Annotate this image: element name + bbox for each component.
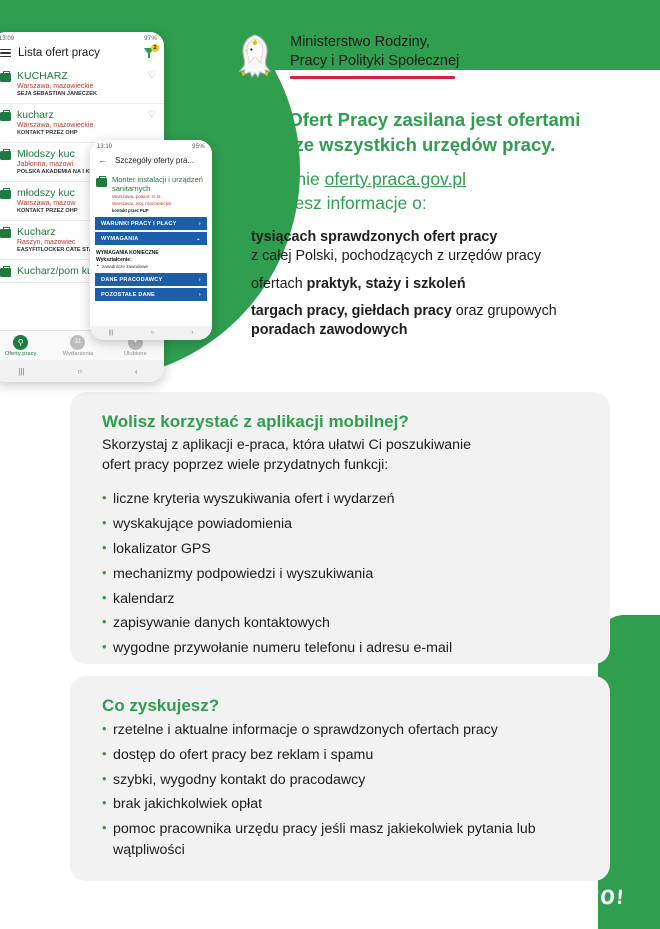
hero-title: Baza Ofert Pracy zasilana jest ofertami …: [240, 108, 640, 158]
search-icon: ⚲: [13, 335, 28, 350]
briefcase-icon: [0, 229, 11, 238]
card-benefits-list: rzetelne i aktualne informacje o sprawdz…: [102, 720, 578, 862]
favorite-heart-icon[interactable]: ♡: [148, 70, 156, 98]
offer-meta-line1: Warszawa, powiat: m.st.: [112, 194, 206, 200]
ministry-red-rule: [290, 76, 455, 79]
card-mobile-app: Wolisz korzystać z aplikacji mobilnej? S…: [70, 392, 610, 664]
status-time: 13:09: [0, 36, 14, 42]
job-location: Warszawa, mazowieckie: [17, 83, 142, 90]
app-bar-title: Lista ofert pracy: [18, 47, 137, 59]
accordion-label: DANE PRACODAWCY: [101, 277, 162, 283]
nav-tab-oferty-pracy[interactable]: ⚲ Oferty pracy: [0, 335, 49, 358]
status-battery: 97%: [144, 36, 157, 42]
ministry-name: Ministerstwo Rodziny, Pracy i Polityki S…: [290, 30, 459, 71]
home-button[interactable]: ○: [151, 330, 155, 336]
briefcase-icon: [0, 190, 11, 199]
card-benefits-heading: Co zyskujesz?: [102, 696, 578, 716]
chevron-right-icon: ›: [199, 221, 201, 227]
hero-bullet-3: targach pracy, giełdach pracy oraz grupo…: [240, 302, 650, 341]
card-app-heading: Wolisz korzystać z aplikacji mobilnej?: [102, 412, 578, 432]
job-location: Warszawa, mazowieckie: [17, 122, 142, 129]
favorite-heart-icon[interactable]: ♡: [148, 109, 156, 137]
briefcase-icon: [0, 112, 11, 121]
hero-sub-prefix: Na stronie: [240, 169, 325, 189]
job-employer: KONTAKT PRZEZ OHP: [17, 130, 142, 137]
hero-title-line1: Baza Ofert Pracy zasilana jest ofertami: [240, 108, 640, 133]
hero-bullet-3-bold: targach pracy, giełdach pracy: [251, 303, 452, 319]
requirements-subheading: Wykształcenie:: [90, 257, 212, 264]
list-item[interactable]: kucharz Warszawa, mazowieckie KONTAKT PR…: [0, 104, 164, 143]
home-button[interactable]: ○: [77, 367, 82, 376]
offer-title: Monter instalacji i urządzeń sanitarnych: [112, 175, 206, 193]
card-app-intro: Skorzystaj z aplikacji e-praca, która uł…: [102, 435, 578, 475]
job-employer: SEJA SEBASTIAN JANECZEK: [17, 91, 142, 98]
list-item: zapisywanie danych kontaktowych: [102, 613, 578, 634]
hero-copy: Baza Ofert Pracy zasilana jest ofertami …: [240, 108, 640, 215]
ministry-name-line1: Ministerstwo Rodziny,: [290, 33, 459, 52]
back-button[interactable]: ‹: [135, 367, 138, 376]
hero-bullet-2-normal: ofertach: [251, 276, 307, 292]
filter-badge: 2: [151, 44, 159, 52]
phone-status-bar: 13:10 95%: [90, 140, 212, 152]
card-app-intro-line1: Skorzystaj z aplikacji e-praca, która uł…: [102, 435, 578, 455]
back-arrow-icon[interactable]: ←: [98, 155, 108, 165]
hamburger-menu-icon[interactable]: [0, 47, 11, 59]
chevron-right-icon: ›: [199, 277, 201, 283]
list-item: kalendarz: [102, 589, 578, 610]
accordion-wymagania[interactable]: WYMAGANIA ⌄: [95, 232, 207, 245]
list-item[interactable]: KUCHARZ Warszawa, mazowieckie SEJA SEBAS…: [0, 65, 164, 104]
ministry-header: Ministerstwo Rodziny, Pracy i Polityki S…: [232, 30, 459, 82]
list-item: liczne kryteria wyszukiwania ofert i wyd…: [102, 489, 578, 510]
nav-label: Ulubione: [124, 351, 147, 357]
accordion-dane-pracodawcy[interactable]: DANE PRACODAWCY ›: [95, 273, 207, 286]
accordion-label: POZOSTAŁE DANE: [101, 292, 155, 298]
status-time: 13:10: [97, 144, 112, 150]
back-button[interactable]: ‹: [191, 330, 193, 336]
list-item: lokalizator GPS: [102, 539, 578, 560]
list-item: wygodne przywołanie numeru telefonu i ad…: [102, 638, 578, 659]
hero-bullet-1: tysiącach sprawdzonych ofert pracy z cał…: [240, 228, 650, 267]
phone-mockup-offer-detail: 13:10 95% ← Szczegóły oferty pra... Mont…: [90, 140, 212, 340]
briefcase-icon: [0, 73, 11, 82]
card-app-feature-list: liczne kryteria wyszukiwania ofert i wyd…: [102, 489, 578, 659]
hero-bullet-list: tysiącach sprawdzonych ofert pracy z cał…: [240, 228, 650, 348]
hero-bullet-3-line2: poradach zawodowych: [251, 322, 408, 338]
calendar-icon: 31: [70, 335, 85, 350]
status-battery: 95%: [192, 144, 205, 150]
polish-eagle-emblem-icon: [232, 30, 278, 82]
list-item: mechanizmy podpowiedzi i wyszukiwania: [102, 564, 578, 585]
requirements-heading: WYMAGANIA KONIECZNE: [90, 247, 212, 257]
nav-label: Oferty pracy: [5, 351, 37, 357]
card-app-intro-line2: ofert pracy poprzez wiele przydatnych fu…: [102, 455, 578, 475]
oferty-praca-link[interactable]: oferty.praca.gov.pl: [325, 169, 466, 189]
list-item: szybki, wygodny kontakt do pracodawcy: [102, 770, 578, 791]
job-title: KUCHARZ: [17, 70, 142, 82]
job-title: kucharz: [17, 109, 142, 121]
accordion-label: WYMAGANIA: [101, 236, 139, 242]
footer-tagline: BĄDŹ NA BIEŻĄCO!: [419, 887, 626, 910]
phone-app-bar: Lista ofert pracy 2: [0, 44, 164, 65]
card-benefits: Co zyskujesz? rzetelne i aktualne inform…: [70, 676, 610, 881]
accordion-warunki-pracy[interactable]: WARUNKI PRACY I PŁACY ›: [95, 217, 207, 230]
phone-app-bar: ← Szczegóły oferty pra...: [90, 152, 212, 171]
list-item: dostęp do ofert pracy bez reklam i spamu: [102, 745, 578, 766]
android-system-bar: ||| ○ ‹: [0, 360, 164, 382]
accordion-label: WARUNKI PRACY I PŁACY: [101, 221, 177, 227]
briefcase-icon: [96, 178, 107, 187]
hero-sub-suffix: znajdziesz informacje o:: [240, 191, 640, 215]
chevron-down-icon: ⌄: [196, 236, 201, 242]
hero-bullet-2: ofertach praktyk, staży i szkoleń: [240, 275, 650, 294]
offer-contact-note: kontakt przez PUP: [112, 208, 206, 213]
hero-subtitle: Na stronie oferty.praca.gov.pl znajdzies…: [240, 167, 640, 215]
filter-funnel-icon[interactable]: 2: [144, 47, 156, 59]
nav-label: Wydarzenia: [63, 351, 94, 357]
list-item: wyskakujące powiadomienia: [102, 514, 578, 535]
app-bar-title: Szczegóły oferty pra...: [115, 156, 204, 165]
poster-page: BĄDŹ NA BIEŻĄCO! Ministerstwo Rodziny, P…: [0, 0, 660, 929]
briefcase-icon: [0, 268, 11, 277]
offer-header: Monter instalacji i urządzeń sanitarnych…: [90, 171, 212, 215]
briefcase-icon: [0, 151, 11, 160]
phone-status-bar: 13:09 97%: [0, 32, 164, 44]
chevron-right-icon: ›: [199, 292, 201, 298]
accordion-pozostale-dane[interactable]: POZOSTAŁE DANE ›: [95, 288, 207, 301]
hero-title-line2: pracy ze wszystkich urzędów pracy.: [240, 133, 640, 158]
android-system-bar: ||| ○ ‹: [90, 326, 212, 340]
requirements-item: zasadnicze zawodowe: [90, 264, 212, 271]
offer-meta-line2: Warszawa, woj. mazowieckie: [112, 201, 206, 207]
ministry-name-line2: Pracy i Polityki Społecznej: [290, 52, 459, 71]
recents-button[interactable]: |||: [109, 330, 114, 336]
list-item: pomoc pracownika urzędu pracy jeśli masz…: [102, 819, 578, 862]
list-item: rzetelne i aktualne informacje o sprawdz…: [102, 720, 578, 741]
recents-button[interactable]: |||: [18, 367, 24, 376]
hero-bullet-1-line2: z całej Polski, pochodzących z urzędów p…: [251, 248, 541, 264]
hero-bullet-3-normal: oraz grupowych: [452, 303, 557, 319]
hero-bullet-2-bold: praktyk, staży i szkoleń: [307, 276, 466, 292]
list-item: brak jakichkolwiek opłat: [102, 794, 578, 815]
hero-bullet-1-bold: tysiącach sprawdzonych ofert pracy: [251, 229, 497, 245]
